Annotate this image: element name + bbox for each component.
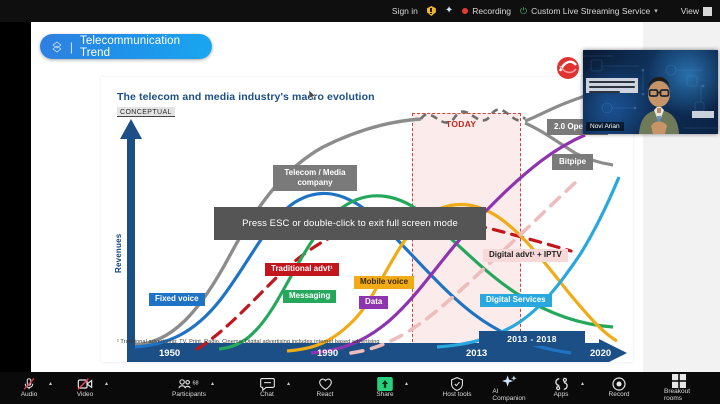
- curve-label-digital-services: Digital Services: [480, 294, 552, 307]
- x-tick-2020: 2020: [590, 348, 611, 359]
- toolbar-apps-button[interactable]: Apps ▴: [546, 372, 576, 404]
- toolbar-breakout-rooms-label: Breakout rooms: [664, 389, 694, 402]
- toolbar-ai-companion-button[interactable]: AI Companion: [494, 372, 524, 404]
- toolbar-video-label: Video: [77, 392, 94, 399]
- toolbar-chat-button[interactable]: Chat ▴: [252, 372, 282, 404]
- toolbar-react-button[interactable]: React: [310, 372, 340, 404]
- curve-label-data: Data: [359, 296, 388, 309]
- toolbar-host-tools-button[interactable]: Host tools: [442, 372, 472, 404]
- toolbar-host-tools-label: Host tools: [443, 392, 472, 399]
- toolbar-participants-button[interactable]: 68 Participants ▴: [174, 372, 204, 404]
- microphone-muted-icon: [22, 377, 36, 391]
- y-axis-label: Revenues: [114, 234, 123, 273]
- active-speaker-video-tile[interactable]: Novi Arian: [583, 50, 718, 134]
- year-range-badge: 2013 - 2018: [479, 331, 585, 346]
- toolbar-record-label: Record: [609, 392, 630, 399]
- shield-icon-glyph: [427, 6, 436, 16]
- toolbar-record-button[interactable]: Record: [604, 372, 634, 404]
- chat-bubble-icon: [260, 377, 275, 391]
- ai-sparkle-icon: [501, 374, 517, 388]
- toolbar-chat-label: Chat: [260, 392, 274, 399]
- curve-telecom-wiggle: [421, 110, 525, 123]
- streaming-label: Custom Live Streaming Service: [531, 6, 650, 16]
- toolbar-audio-button[interactable]: Audio ▴: [14, 372, 44, 404]
- mouse-cursor: [309, 90, 317, 101]
- sign-in-button[interactable]: Sign in: [392, 6, 418, 16]
- toolbar-share-button[interactable]: Share ▴: [370, 372, 400, 404]
- apps-chevron-up-icon[interactable]: ▴: [581, 380, 584, 387]
- meeting-controls-toolbar: Audio ▴ Video ▴ 68: [0, 372, 720, 404]
- toolbar-video-button[interactable]: Video ▴: [70, 372, 100, 404]
- ai-sparkle-icon[interactable]: ✦: [445, 6, 453, 16]
- shared-screen-stage: | Telecommunication Trend The telecom an…: [0, 22, 720, 372]
- view-label: View: [681, 6, 699, 16]
- toolbar-participants-label: Participants: [172, 392, 206, 399]
- audio-chevron-up-icon[interactable]: ▴: [49, 380, 52, 387]
- record-icon: [612, 377, 626, 391]
- video-lower-third-chip: [692, 111, 714, 118]
- x-tick-1950: 1950: [159, 348, 180, 359]
- shield-host-icon: [450, 377, 464, 391]
- slide-title-text: Telecommunication Trend: [80, 35, 212, 59]
- shield-security-icon[interactable]: [427, 6, 436, 16]
- x-tick-2013: 2013: [466, 348, 487, 359]
- stage-left-margin: [0, 22, 31, 372]
- toolbar-audio-label: Audio: [21, 392, 38, 399]
- pill-divider: |: [70, 40, 73, 54]
- breakout-grid-icon: [672, 374, 686, 388]
- toolbar-breakout-rooms-button[interactable]: Breakout rooms: [664, 372, 694, 404]
- camera-muted-icon: [77, 377, 93, 391]
- callout-bitpipe: Bitpipe: [552, 154, 593, 170]
- curve-label-mobile-voice: Mobile voice: [354, 276, 414, 289]
- curve-label-digital-advt-iptv: Digital advt¹ + IPTV: [483, 249, 568, 262]
- zoom-meeting-window: Sign in ✦ Recording ⏻ Custom Live Stream…: [0, 0, 720, 404]
- slide-title-pill: | Telecommunication Trend: [40, 34, 212, 59]
- x-tick-1990: 1990: [317, 348, 338, 359]
- video-chevron-up-icon[interactable]: ▴: [105, 380, 108, 387]
- chart-footnote: ¹ Traditional advertising: TV, Print, Ra…: [117, 339, 380, 345]
- toolbar-react-label: React: [317, 392, 334, 399]
- participant-name-label: Novi Arian: [586, 122, 624, 131]
- top-meeting-bar: Sign in ✦ Recording ⏻ Custom Live Stream…: [0, 0, 720, 22]
- recording-indicator[interactable]: Recording: [462, 6, 511, 16]
- live-streaming-status[interactable]: ⏻ Custom Live Streaming Service ▾: [520, 6, 658, 17]
- chevron-down-icon[interactable]: ▾: [654, 7, 658, 15]
- live-stream-icon: ⏻: [520, 6, 527, 17]
- share-chevron-up-icon[interactable]: ▴: [405, 380, 408, 387]
- view-layout-icon: [703, 7, 712, 16]
- brand-swirl-badge-icon: [556, 56, 580, 80]
- telkomsel-logo-icon: [51, 41, 63, 53]
- sparkle-icon-glyph: ✦: [445, 6, 453, 16]
- participants-chevron-up-icon[interactable]: ▴: [211, 380, 214, 387]
- exit-fullscreen-message: Press ESC or double-click to exit full s…: [242, 218, 458, 229]
- exit-fullscreen-toast: Press ESC or double-click to exit full s…: [214, 207, 486, 240]
- view-button[interactable]: View: [681, 6, 712, 16]
- y-axis-arrow: [120, 119, 142, 347]
- callout-telecom-media-company: Telecom / Media company: [273, 165, 357, 191]
- toolbar-share-label: Share: [376, 392, 393, 399]
- record-dot-icon: [462, 8, 468, 14]
- share-screen-icon: [377, 377, 393, 391]
- curve-label-messaging: Messaging: [283, 290, 336, 303]
- chat-chevron-up-icon[interactable]: ▴: [287, 380, 290, 387]
- speaker-avatar-figure: [635, 68, 683, 134]
- participants-icon: 68: [178, 377, 200, 391]
- video-overlay-caption: [586, 78, 638, 93]
- curve-label-traditional-advt: Traditional advt¹: [265, 263, 339, 276]
- toolbar-ai-companion-label: AI Companion: [492, 389, 525, 402]
- heart-icon: [318, 377, 333, 391]
- toolbar-apps-label: Apps: [554, 392, 569, 399]
- recording-label: Recording: [472, 6, 511, 16]
- sign-in-label: Sign in: [392, 6, 418, 16]
- svg-text:68: 68: [192, 381, 198, 387]
- apps-icon: [554, 377, 569, 391]
- curve-label-fixed-voice: Fixed voice: [149, 293, 205, 306]
